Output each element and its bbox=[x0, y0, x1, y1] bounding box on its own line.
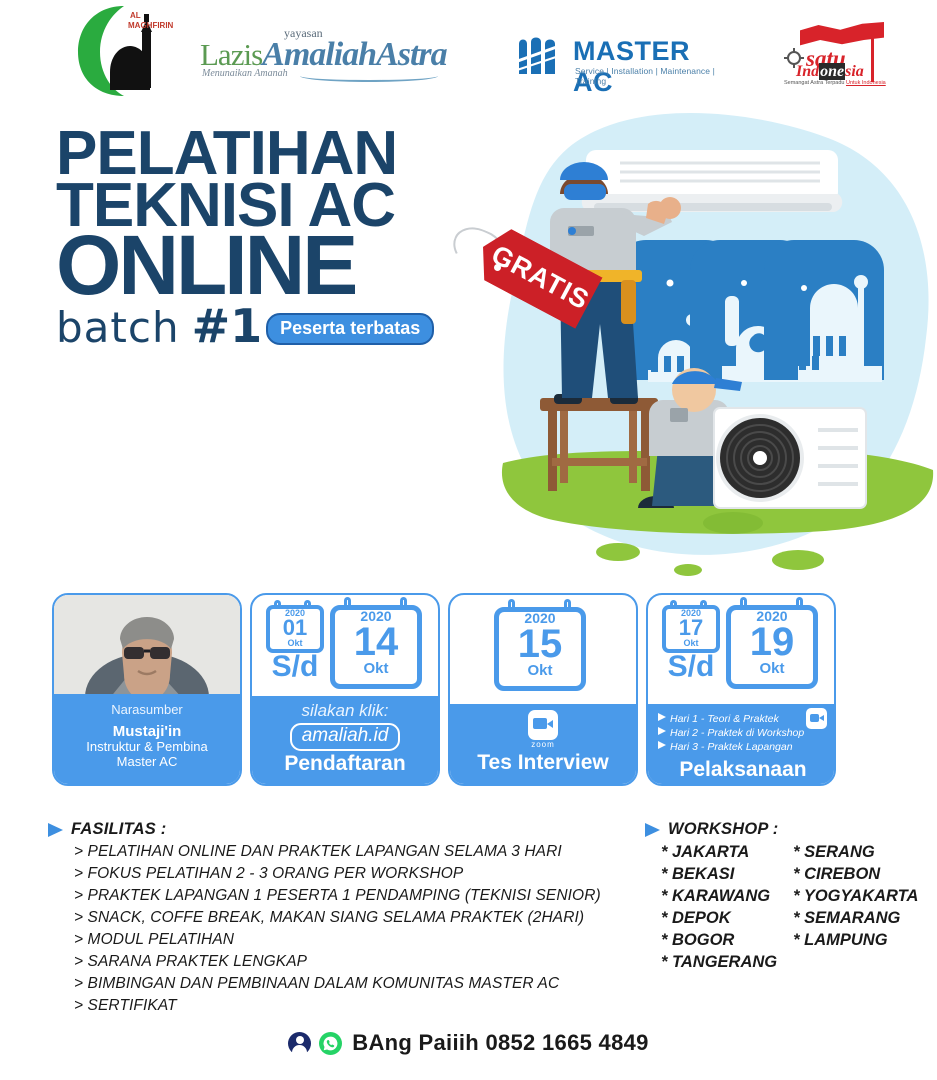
pelaksanaan-title: Pelaksanaan bbox=[658, 758, 828, 782]
whatsapp-icon[interactable] bbox=[319, 1032, 342, 1055]
gratis-label: GRATIS bbox=[486, 239, 594, 316]
narasumber-label: Narasumber bbox=[54, 702, 240, 717]
pelaksanaan-item: Hari 2 - Praktek di Workshop bbox=[658, 726, 828, 740]
start-month: Okt bbox=[666, 638, 716, 648]
pelaksanaan-dates: 2020 17 Okt S/d 2020 19 Okt bbox=[648, 595, 834, 701]
calendar-small-start: 2020 01 Okt bbox=[266, 605, 324, 653]
arrow-icon bbox=[48, 823, 63, 837]
fasilitas-item: > SERTIFIKAT bbox=[74, 997, 638, 1015]
master-ac-logo: MASTER AC Service | Installation | Maint… bbox=[515, 36, 730, 82]
workshop-heading-row: WORKSHOP : bbox=[645, 820, 935, 839]
zoom-camera-lens bbox=[547, 720, 553, 728]
silakan-klik-text: silakan klik: bbox=[252, 701, 438, 721]
zoom-platform-label: zoom bbox=[450, 740, 636, 749]
tes-interview-title: Tes Interview bbox=[450, 751, 636, 775]
workshop-city: * YOGYAKARTA bbox=[793, 886, 918, 908]
end-day: 19 bbox=[731, 624, 813, 660]
fasilitas-item: > FOKUS PELATIHAN 2 - 3 ORANG PER WORKSH… bbox=[74, 865, 638, 883]
workshop-city: * JAKARTA bbox=[661, 842, 777, 864]
fasilitas-item: > SNACK, COFFE BREAK, MAKAN SIANG SELAMA… bbox=[74, 909, 638, 927]
svg-text:AL: AL bbox=[130, 11, 141, 20]
workshop-section: WORKSHOP : * JAKARTA * BEKASI * KARAWANG… bbox=[645, 820, 935, 974]
card-tes-interview: 2020 15 Okt zoom Tes Interview bbox=[448, 593, 638, 786]
indonesia-wordmark: Indonesia bbox=[796, 63, 864, 81]
interview-caption: zoom Tes Interview bbox=[450, 704, 636, 784]
lazis-tagline: Menunaikan Amanah bbox=[202, 68, 288, 79]
calendar-small-start: 2020 17 Okt bbox=[662, 605, 720, 653]
interview-day: 15 bbox=[499, 626, 581, 662]
card-pelaksanaan: 2020 17 Okt S/d 2020 19 Okt Hari 1 - Teo… bbox=[646, 593, 836, 786]
workshop-city: * TANGERANG bbox=[661, 952, 777, 974]
pelaksanaan-item: Hari 1 - Teori & Praktek bbox=[658, 712, 828, 726]
fasilitas-item: > SARANA PRAKTEK LENGKAP bbox=[74, 953, 638, 971]
logo-bar: AL MAGHFIRIN yayasan LazisAmaliahAstra M… bbox=[0, 0, 937, 105]
lazis-wordmark: Lazis bbox=[200, 37, 262, 72]
fasilitas-item: > PELATIHAN ONLINE DAN PRAKTEK LAPANGAN … bbox=[74, 843, 638, 861]
al-maghfirin-logo: AL MAGHFIRIN bbox=[72, 2, 177, 100]
card-narasumber: Narasumber Mustaji'in Instruktur & Pembi… bbox=[52, 593, 242, 786]
start-day: 17 bbox=[666, 618, 716, 638]
info-cards-row: Narasumber Mustaji'in Instruktur & Pembi… bbox=[52, 593, 892, 793]
calendar-big-end: 2020 14 Okt bbox=[330, 605, 422, 689]
batch-number: #1 bbox=[192, 303, 263, 349]
arrow-icon bbox=[658, 713, 666, 721]
end-month: Okt bbox=[335, 660, 417, 677]
workshop-city-columns: * JAKARTA * BEKASI * KARAWANG * DEPOK * … bbox=[661, 842, 935, 974]
pendaftaran-caption: silakan klik: amaliah.id Pendaftaran bbox=[252, 696, 438, 784]
svg-text:MAGHFIRIN: MAGHFIRIN bbox=[128, 21, 174, 30]
zoom-camera-body bbox=[533, 718, 547, 729]
narasumber-role-2: Master AC bbox=[54, 755, 240, 770]
arrow-icon bbox=[658, 727, 666, 735]
ac-technician-illustration bbox=[498, 108, 937, 588]
zoom-icon bbox=[528, 710, 558, 740]
arrow-icon bbox=[658, 741, 666, 749]
workshop-city: * DEPOK bbox=[661, 908, 777, 930]
end-day: 14 bbox=[335, 624, 417, 660]
calendar-big-end: 2020 19 Okt bbox=[726, 605, 818, 689]
zoom-camera-body bbox=[810, 714, 819, 722]
workshop-column-left: * JAKARTA * BEKASI * KARAWANG * DEPOK * … bbox=[661, 842, 777, 974]
pelaksanaan-item: Hari 3 - Praktek Lapangan bbox=[658, 740, 828, 754]
amaliah-astra-wordmark: AmaliahAstra bbox=[262, 36, 447, 73]
fasilitas-item: > PRAKTEK LAPANGAN 1 PESERTA 1 PENDAMPIN… bbox=[74, 887, 638, 905]
start-day: 01 bbox=[270, 618, 320, 638]
zoom-camera-lens bbox=[819, 715, 824, 721]
calendar-interview: 2020 15 Okt bbox=[494, 607, 586, 691]
workshop-city: * KARAWANG bbox=[661, 886, 777, 908]
interview-date: 2020 15 Okt bbox=[450, 595, 636, 701]
narasumber-caption: Narasumber Mustaji'in Instruktur & Pembi… bbox=[54, 694, 240, 784]
date-separator: S/d bbox=[662, 655, 720, 679]
fasilitas-heading: FASILITAS : bbox=[71, 820, 166, 839]
workshop-heading: WORKSHOP : bbox=[668, 820, 778, 839]
contact-footer: BAng Paiiih 0852 1665 4849 bbox=[0, 1030, 937, 1056]
gratis-price-tag: GRATIS bbox=[452, 228, 602, 348]
registration-url-link[interactable]: amaliah.id bbox=[290, 723, 401, 751]
flag-pole bbox=[871, 26, 874, 82]
fasilitas-heading-row: FASILITAS : bbox=[48, 820, 638, 839]
contact-text: BAng Paiiih 0852 1665 4849 bbox=[352, 1030, 648, 1056]
fasilitas-item: > BIMBINGAN DAN PEMBINAAN DALAM KOMUNITA… bbox=[74, 975, 638, 993]
start-month: Okt bbox=[270, 638, 320, 648]
arrow-icon bbox=[645, 823, 660, 837]
pelaksanaan-item-label: Hari 1 - Teori & Praktek bbox=[670, 713, 779, 725]
narasumber-photo bbox=[54, 595, 240, 701]
pelaksanaan-item-label: Hari 2 - Praktek di Workshop bbox=[670, 727, 804, 739]
satu-indonesia-logo: satu Indonesia Semangat Astra Terpadu Un… bbox=[778, 22, 898, 90]
pendaftaran-title: Pendaftaran bbox=[252, 752, 438, 776]
workshop-city: * CIREBON bbox=[793, 864, 918, 886]
date-separator: S/d bbox=[266, 655, 324, 679]
workshop-city: * LAMPUNG bbox=[793, 930, 918, 952]
pendaftaran-dates: 2020 01 Okt S/d 2020 14 Okt bbox=[252, 595, 438, 701]
fasilitas-section: FASILITAS : > PELATIHAN ONLINE DAN PRAKT… bbox=[48, 820, 638, 1015]
limited-seats-badge: Peserta terbatas bbox=[266, 313, 434, 345]
lazis-swoosh-decoration bbox=[300, 70, 438, 82]
pelaksanaan-caption: Hari 1 - Teori & Praktek Hari 2 - Prakte… bbox=[648, 704, 834, 784]
end-month: Okt bbox=[731, 660, 813, 677]
batch-label: batch bbox=[56, 307, 180, 349]
interview-month: Okt bbox=[499, 662, 581, 679]
fasilitas-item: > MODUL PELATIHAN bbox=[74, 931, 638, 949]
workshop-city: * BEKASI bbox=[661, 864, 777, 886]
satu-indonesia-tagline: Semangat Astra Terpadu Untuk Indonesia bbox=[784, 80, 886, 86]
tag-hole bbox=[494, 264, 501, 271]
workshop-city: * BOGOR bbox=[661, 930, 777, 952]
workshop-city: * SEMARANG bbox=[793, 908, 918, 930]
card-pendaftaran[interactable]: 2020 01 Okt S/d 2020 14 Okt silakan klik… bbox=[250, 593, 440, 786]
workshop-column-right: * SERANG * CIREBON * YOGYAKARTA * SEMARA… bbox=[793, 842, 918, 974]
pelaksanaan-item-label: Hari 3 - Praktek Lapangan bbox=[670, 741, 793, 753]
narasumber-role-1: Instruktur & Pembina bbox=[54, 740, 240, 755]
workshop-city: * SERANG bbox=[793, 842, 918, 864]
narasumber-name: Mustaji'in bbox=[54, 723, 240, 740]
lazis-amaliah-astra-logo: yayasan LazisAmaliahAstra Menunaikan Ama… bbox=[200, 26, 440, 82]
zoom-icon bbox=[806, 708, 827, 729]
person-icon bbox=[288, 1032, 311, 1055]
master-ac-tagline: Service | Installation | Maintenance | T… bbox=[575, 66, 730, 86]
